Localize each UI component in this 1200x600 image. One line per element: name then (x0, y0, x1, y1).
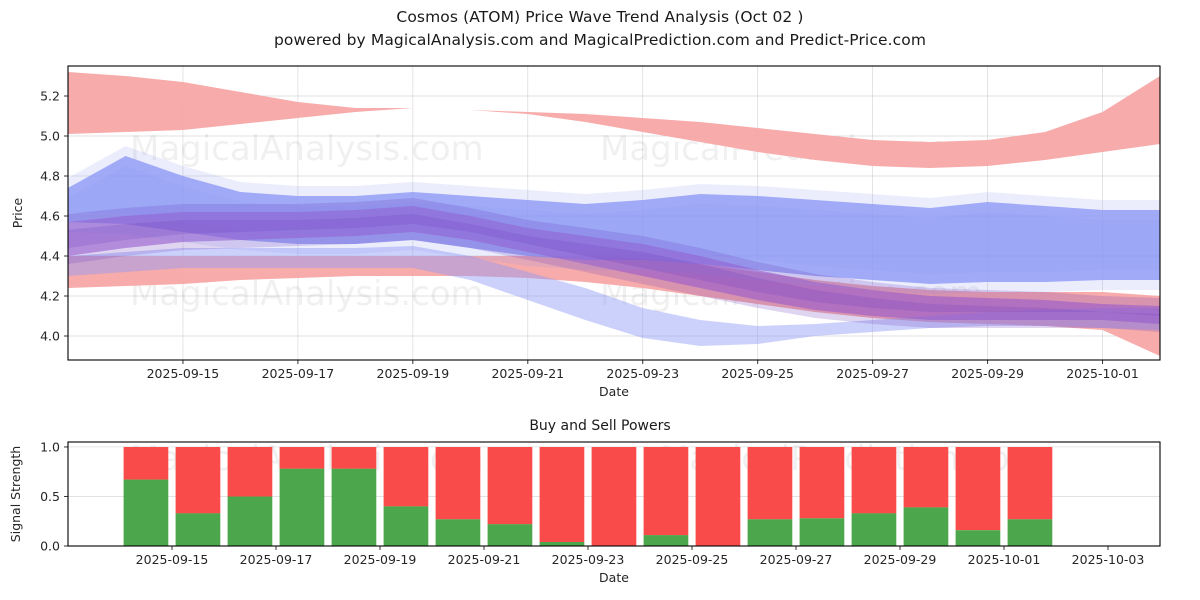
top-x-tick-label: 2025-09-15 (147, 366, 220, 381)
buy-power-bar (228, 497, 273, 547)
price-wave-chart: MagicalAnalysis.comMagicalPrediction.com… (0, 0, 1200, 400)
top-y-tick-label: 4.2 (40, 289, 60, 304)
figure-canvas: Cosmos (ATOM) Price Wave Trend Analysis … (0, 0, 1200, 600)
top-x-axis-label: Date (599, 384, 629, 399)
buy-power-bar (176, 513, 221, 546)
top-x-tick-label: 2025-10-01 (1066, 366, 1139, 381)
bottom-y-axis-label: Signal Strength (8, 446, 23, 542)
top-y-tick-label: 4.6 (40, 209, 60, 224)
bottom-x-tick-label: 2025-10-01 (968, 552, 1041, 567)
sell-power-bar (540, 447, 585, 542)
bottom-x-tick-label: 2025-09-19 (344, 552, 417, 567)
buy-power-bar (280, 469, 325, 546)
top-y-tick-label: 4.8 (40, 169, 60, 184)
bottom-x-tick-label: 2025-09-21 (448, 552, 521, 567)
bottom-x-axis-label: Date (599, 570, 629, 585)
buy-power-bar (956, 530, 1001, 546)
buy-power-bar (800, 518, 845, 546)
sell-power-bar (800, 447, 845, 518)
sell-power-bar (436, 447, 481, 519)
top-y-tick-label: 5.0 (40, 129, 60, 144)
buy-sell-powers-chart: MagicalAnalysis.comMagicalPrediction.com… (0, 400, 1200, 600)
top-x-tick-label: 2025-09-17 (262, 366, 335, 381)
buy-power-bar (904, 507, 949, 546)
bottom-y-tick-label: 1.0 (40, 439, 60, 454)
buy-power-bar (332, 469, 377, 546)
top-x-tick-label: 2025-09-29 (951, 366, 1024, 381)
top-y-tick-label: 4.0 (40, 329, 60, 344)
sell-power-bar (904, 447, 949, 507)
sell-power-bar (696, 447, 741, 546)
sell-power-bar (176, 447, 221, 513)
top-x-tick-label: 2025-09-23 (606, 366, 679, 381)
sell-power-bar (228, 447, 273, 497)
sell-power-bar (852, 447, 897, 513)
bottom-x-tick-label: 2025-09-27 (760, 552, 833, 567)
top-x-tick-label: 2025-09-19 (377, 366, 450, 381)
buy-power-bar (488, 524, 533, 546)
sell-power-bar (644, 447, 689, 535)
buy-power-bar (436, 519, 481, 546)
buy-power-bar (1008, 519, 1053, 546)
sell-power-bar (332, 447, 377, 469)
top-x-tick-label: 2025-09-21 (491, 366, 564, 381)
buy-power-bar (644, 535, 689, 546)
bottom-x-tick-label: 2025-09-15 (136, 552, 209, 567)
buy-power-bar (540, 542, 585, 546)
buy-power-bar (124, 480, 169, 546)
sell-power-bar (748, 447, 793, 519)
sell-power-bar (956, 447, 1001, 530)
top-y-axis-label: Price (10, 197, 25, 228)
svg-text:MagicalAnalysis.com: MagicalAnalysis.com (130, 129, 484, 169)
buy-power-bar (748, 519, 793, 546)
top-x-tick-label: 2025-09-25 (721, 366, 794, 381)
sell-power-bar (1008, 447, 1053, 519)
bottom-y-tick-label: 0.5 (40, 489, 60, 504)
sell-power-bar (488, 447, 533, 524)
top-y-tick-label: 5.2 (40, 89, 60, 104)
buy-power-bar (852, 513, 897, 546)
sell-power-bar (384, 447, 429, 506)
top-x-tick-label: 2025-09-27 (836, 366, 909, 381)
bottom-x-tick-label: 2025-09-29 (864, 552, 937, 567)
bottom-x-tick-label: 2025-09-17 (240, 552, 313, 567)
sell-power-bar (280, 447, 325, 469)
bottom-x-tick-label: 2025-10-03 (1072, 552, 1145, 567)
sell-power-bar (124, 447, 169, 480)
bottom-y-tick-label: 0.0 (40, 539, 60, 554)
bottom-x-tick-label: 2025-09-25 (656, 552, 729, 567)
top-y-tick-label: 4.4 (40, 249, 60, 264)
buy-power-bar (384, 506, 429, 546)
sell-power-bar (592, 447, 637, 546)
bottom-x-tick-label: 2025-09-23 (552, 552, 625, 567)
